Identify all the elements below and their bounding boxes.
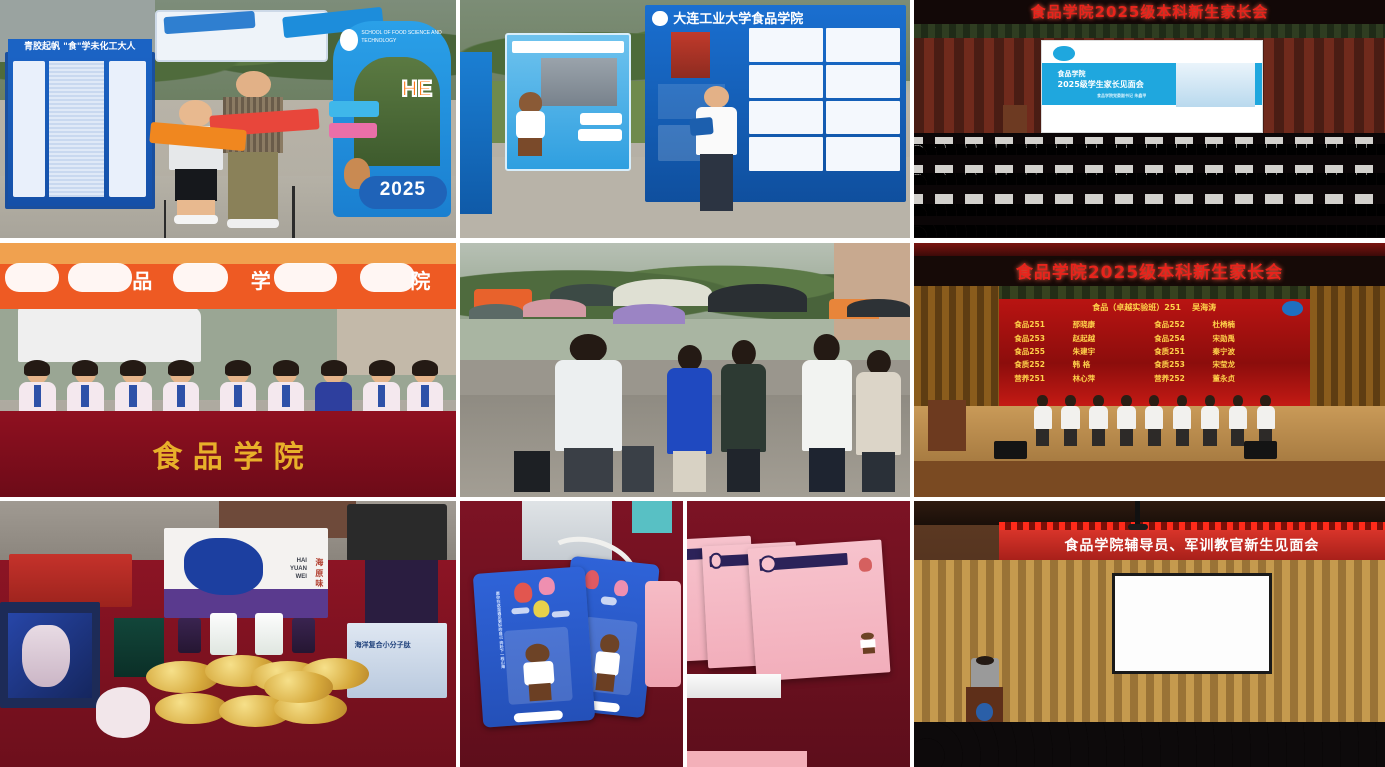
table-banner: 食 品 学 院 [0, 411, 456, 497]
tent-char-3: 院 [410, 265, 430, 294]
hall-banner: 食品学院2025级本科新生家长会 [914, 256, 1385, 286]
university-seal-icon [976, 703, 993, 720]
info-board-panel-right [109, 61, 147, 197]
table-banner-text: 食 品 学 院 [152, 432, 303, 476]
tent-sign [68, 263, 132, 292]
student-trousers [700, 154, 732, 211]
card-footer-tab [514, 710, 564, 723]
supplement-bottle [292, 618, 315, 653]
hall-banner-text: 食品学院辅导员、军训教官新生见面会 [1064, 535, 1319, 555]
panel-photo [541, 58, 617, 106]
info-board: 青胶起帆 "食"学未化工大人 [5, 52, 155, 209]
college-logo-icon [710, 552, 723, 569]
mascot-icon [858, 631, 878, 655]
table-row: 食质252 韩 格 食质253 宋莹龙 [1014, 358, 1294, 371]
product-en-line-1: HAI [297, 558, 307, 564]
cloud-icon [600, 596, 617, 605]
table-row: 营养251 林心萍 营养252 董永贞 [1014, 372, 1294, 385]
balloon-icon [858, 557, 872, 571]
stage-apron [914, 461, 1385, 497]
counselor-name: 那晓康 [1073, 318, 1155, 331]
stage-valance [914, 24, 1385, 38]
class-label: 食质251 [1154, 345, 1212, 358]
counselor-name: 宋莹龙 [1212, 358, 1294, 371]
red-gift-box [9, 554, 132, 607]
round-tin [96, 687, 151, 738]
slide-line-2: 2025级学生家长见面会 [1058, 79, 1144, 90]
product-en-line-3: WEI [296, 574, 307, 580]
hall-banner: 食品学院辅导员、军训教官新生见面会 [999, 530, 1385, 559]
arch-hello-text: HE [402, 76, 454, 99]
boy-legs [177, 200, 214, 216]
tent-sign [360, 263, 415, 292]
portrait-photo [671, 32, 710, 77]
info-board-headline: 青胶起帆 "食"学未化工大人 [8, 39, 152, 56]
person [802, 334, 852, 491]
photo-cell-2[interactable]: 大连工业大学食品学院 [460, 0, 910, 238]
counselor-figure [1255, 395, 1277, 446]
class-label: 营养252 [1154, 372, 1212, 385]
balloon-icon [538, 576, 556, 596]
product-name-cn: 海 原 味 [315, 558, 323, 589]
counselor-figure [1060, 395, 1082, 446]
suitcase [622, 446, 654, 492]
info-board-name-list [49, 61, 104, 197]
ceiling-light-band [914, 243, 1385, 256]
speech-bubble-1 [580, 113, 621, 125]
counselor-figure [1227, 395, 1249, 446]
college-logo-icon [758, 554, 777, 572]
table-row: 食品253 赵起越 食品254 宋勋禹 [1014, 331, 1294, 344]
podium [928, 400, 966, 451]
photo-collage: 青胶起帆 "食"学未化工大人 [0, 0, 1385, 767]
photo-cell-1[interactable]: 青胶起帆 "食"学未化工大人 [0, 0, 456, 238]
class-label: 食品251 [1014, 318, 1072, 331]
product-en-line-2: YUAN [290, 566, 307, 572]
tent-sign [173, 263, 228, 292]
notebook-front [747, 539, 890, 681]
led-name-list-screen: 食品（卓越实验班）251 吴海涛 食品251 那晓康 食品252 杜椅楠 食品2… [999, 299, 1310, 406]
tent-char-1: 品 [132, 265, 152, 294]
man-head [236, 71, 270, 98]
man-shoes [227, 219, 279, 228]
college-poster-board: 大连工业大学食品学院 [645, 5, 906, 203]
class-label: 食质252 [1014, 358, 1072, 371]
counselor-figure [1088, 395, 1110, 446]
photo-cell-6[interactable]: 食品学院2025级本科新生家长会 食品（卓越实验班）251 吴海涛 食品251 … [914, 243, 1385, 497]
wechat-moments-board [505, 33, 631, 171]
arch-year-label: 2025 [359, 176, 447, 209]
photo-cell-10[interactable]: 食品学院辅导员、军训教官新生见面会 Counselor and military… [914, 501, 1385, 767]
arch-tag-2 [329, 123, 376, 139]
led-header-name: 吴海涛 [1192, 303, 1216, 312]
audience-area [914, 133, 1385, 238]
hanging-microphone [1135, 501, 1140, 530]
photo-cell-7[interactable]: HAI YUAN WEI 海 原 味 海洋复合小分子肽 [0, 501, 456, 767]
counselor-name: 董永贞 [1212, 372, 1294, 385]
held-sign [690, 117, 715, 136]
person [856, 350, 901, 492]
photo-cell-3[interactable]: 食品学院2025级本科新生家长会 食品学院 2025级学生家长见面会 食品学院党… [914, 0, 1385, 238]
supplement-bottle [178, 618, 201, 653]
photo-cell-5[interactable]: New students and families arriving with … [460, 243, 910, 497]
table-row: 食品255 朱建宇 食质251 秦宁波 [1014, 345, 1294, 358]
audience-heads [914, 225, 1385, 237]
teal-box [632, 501, 672, 533]
board-stand-1 [164, 200, 166, 238]
cloud-icon [511, 607, 529, 614]
board-stand-2 [292, 186, 295, 238]
adjacent-banner [460, 52, 492, 214]
slide-line-3: 食品学院党委副书记 朱鑫甲 [1097, 93, 1146, 99]
board-title: 大连工业大学食品学院 [652, 11, 809, 27]
counselor-figure [1115, 395, 1137, 446]
audience-area [914, 722, 1385, 767]
product-cn-char-3: 味 [315, 579, 323, 588]
tent-sign [274, 263, 338, 292]
poster-panel [749, 28, 823, 61]
class-label: 食质253 [1154, 358, 1212, 371]
tent-sign [5, 263, 60, 292]
projection-screen [1112, 573, 1272, 674]
photo-cell-9[interactable]: Pink branded notebooks with the college … [687, 501, 910, 767]
mascot-body [516, 111, 545, 139]
dark-gift-box [365, 560, 438, 624]
poster-panel [826, 101, 900, 134]
poster-panel [826, 28, 900, 61]
umbrella [613, 304, 685, 324]
person-with-luggage [555, 334, 623, 491]
counselor-lineup [1032, 395, 1277, 446]
speech-bubble-2 [578, 129, 622, 141]
man-trousers [228, 152, 278, 220]
counselor-figure [1171, 395, 1193, 446]
folding-chair [347, 504, 447, 563]
supplement-bottle [210, 613, 237, 656]
parked-van [18, 307, 200, 363]
stage-speaker [994, 441, 1027, 459]
photo-cell-8[interactable]: 愿你在这里遇见更好的自己 奔赴下一程山海 Blue mascot lanyard… [460, 501, 683, 767]
poster-panel-grid [749, 28, 900, 170]
arch-tag-1 [329, 101, 379, 117]
person [667, 345, 712, 492]
welcome-arch: SCHOOL OF FOOD SCIENCE AND TECHNOLOGY HE… [333, 21, 452, 216]
college-logo-icon [1053, 46, 1075, 61]
product-cn-char-1: 海 [315, 558, 323, 567]
counselor-figure [1032, 395, 1054, 446]
student-figure [694, 86, 739, 219]
poster-panel [749, 137, 823, 170]
presenter-figure [971, 658, 999, 690]
counselor-name: 赵起越 [1073, 331, 1155, 344]
audience-heads [914, 204, 1385, 216]
class-label: 食品254 [1154, 331, 1212, 344]
balloon-icon [513, 582, 532, 603]
card-holder-front: 愿你在这里遇见更好的自己 奔赴下一程山海 [473, 566, 595, 728]
class-label: 食品255 [1014, 345, 1072, 358]
counselor-name: 宋勋禹 [1212, 331, 1294, 344]
product-name-en: HAI YUAN WEI [290, 558, 307, 581]
hall-banner-text: 食品学院2025级本科新生家长会 [1031, 1, 1269, 22]
hall-banner-text: 食品学院2025级本科新生家长会 [1016, 258, 1283, 283]
table-row: 食品251 那晓康 食品252 杜椅楠 [1014, 318, 1294, 331]
ceramic-jar [22, 625, 70, 687]
led-header-class: 食品（卓越实验班）251 [1092, 303, 1181, 312]
arch-school-name-en: SCHOOL OF FOOD SCIENCE AND TECHNOLOGY [361, 29, 446, 49]
umbrella [708, 284, 807, 312]
poster-panel [826, 137, 900, 170]
umbrella [469, 304, 523, 319]
boy-head [179, 100, 213, 127]
suitcase [514, 451, 550, 492]
balloon-icon [584, 569, 600, 589]
umbrella [613, 279, 712, 307]
boy-shorts [175, 169, 217, 201]
mascot-head [519, 92, 542, 113]
counselor-name: 韩 格 [1073, 358, 1155, 371]
projection-screen: 食品学院 2025级学生家长见面会 食品学院党委副书记 朱鑫甲 [1041, 40, 1262, 133]
counselor-figure [1199, 395, 1221, 446]
panel-header-bar [512, 41, 624, 53]
photo-cell-4[interactable]: 品 学 院 食 品 学 院 Student volunteers staffin… [0, 243, 456, 497]
tent-char-2: 学 [251, 265, 271, 294]
supplement-bottle [255, 613, 282, 656]
class-label: 食品252 [1154, 318, 1212, 331]
poster-panel [749, 101, 823, 134]
audience-heads [914, 173, 1385, 185]
student-head [704, 86, 729, 109]
class-label: 营养251 [1014, 372, 1072, 385]
product-box-label: 海洋复合小分子肽 [355, 640, 411, 650]
umbrella [847, 299, 910, 317]
class-label: 食品253 [1014, 331, 1072, 344]
university-logo-icon [340, 29, 358, 50]
counselor-figure [1143, 395, 1165, 446]
counselor-name: 杜椅楠 [1212, 318, 1294, 331]
gold-dome [155, 693, 228, 725]
class-counselor-table: 食品251 那晓康 食品252 杜椅楠 食品253 赵起越 食品254 宋勋禹 … [1014, 318, 1294, 385]
slide-line-1: 食品学院 [1058, 69, 1086, 79]
cloud-icon [551, 611, 569, 618]
background-building [834, 243, 911, 340]
mascot-girl-cutout [513, 92, 547, 162]
balloon-icon [613, 579, 628, 597]
person [721, 340, 766, 492]
mascot-skirt [518, 138, 543, 156]
balloon-icon [533, 600, 550, 618]
gold-dome [264, 671, 332, 703]
audience-heads [914, 722, 1385, 767]
registration-tent-canopy: 品 学 院 [0, 243, 456, 309]
pink-paper-stack [687, 751, 807, 767]
counselor-name: 朱建宇 [1073, 345, 1155, 358]
white-paper-stack [687, 674, 781, 698]
mascot-icon [520, 643, 558, 710]
navy-presentation-box [0, 602, 100, 708]
audience-heads [914, 144, 1385, 156]
poster-panel [826, 65, 900, 98]
hall-banner: 食品学院2025级本科新生家长会 [914, 0, 1385, 24]
haiyuanwei-product-box: HAI YUAN WEI 海 原 味 [164, 528, 328, 618]
pink-card-holder [645, 581, 681, 687]
product-art [184, 538, 263, 594]
peptide-product-box: 海洋复合小分子肽 [347, 623, 447, 697]
stage-speaker [1244, 441, 1277, 459]
info-board-panel-left [13, 61, 45, 197]
product-cn-char-2: 原 [315, 569, 323, 578]
counselor-name: 林心萍 [1073, 372, 1155, 385]
seat-row [914, 194, 1385, 204]
counselor-name: 秦宁波 [1212, 345, 1294, 358]
umbrella [523, 299, 586, 317]
boy-shoes [174, 215, 218, 224]
poster-panel [749, 65, 823, 98]
led-strip [999, 522, 1385, 530]
slide-building-art [1176, 63, 1255, 107]
